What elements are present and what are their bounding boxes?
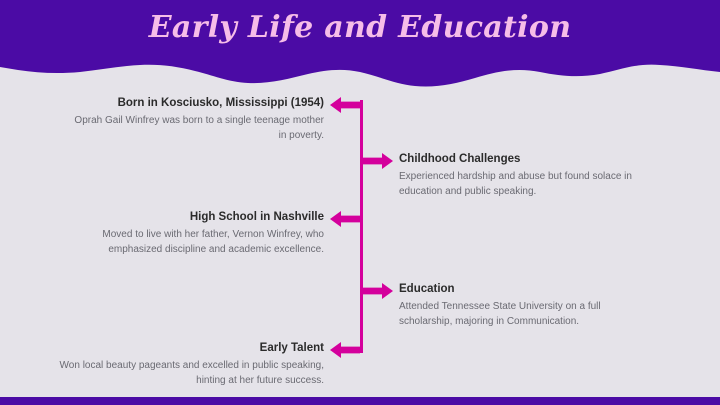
- timeline-item-text: Education Attended Tennessee State Unive…: [399, 282, 651, 329]
- timeline-item-text: Born in Kosciusko, Mississippi (1954) Op…: [74, 96, 324, 143]
- timeline-item-heading: Childhood Challenges: [399, 152, 654, 167]
- timeline-item-heading: High School in Nashville: [56, 210, 324, 225]
- timeline-item-text: Childhood Challenges Experienced hardshi…: [399, 152, 654, 199]
- timeline-item-body: Won local beauty pageants and excelled i…: [52, 359, 324, 388]
- timeline-item-education[interactable]: Education Attended Tennessee State Unive…: [363, 282, 651, 329]
- timeline-item-high-school-in-nashville[interactable]: High School in Nashville Moved to live w…: [56, 210, 360, 257]
- timeline-item-heading: Early Talent: [52, 341, 324, 356]
- page-title: Early Life and Education: [0, 8, 720, 48]
- timeline-item-childhood-challenges[interactable]: Childhood Challenges Experienced hardshi…: [363, 152, 654, 199]
- arrow-right-icon: [363, 153, 393, 169]
- timeline-item-heading: Born in Kosciusko, Mississippi (1954): [74, 96, 324, 111]
- timeline-item-early-talent[interactable]: Early Talent Won local beauty pageants a…: [52, 341, 360, 388]
- timeline-item-body: Moved to live with her father, Vernon Wi…: [56, 228, 324, 257]
- timeline-item-text: High School in Nashville Moved to live w…: [56, 210, 324, 257]
- timeline-item-body: Attended Tennessee State University on a…: [399, 300, 651, 329]
- arrow-right-icon: [363, 283, 393, 299]
- timeline-item-body: Experienced hardship and abuse but found…: [399, 170, 654, 199]
- slide: Early Life and Education Born in Koscius…: [0, 0, 720, 405]
- timeline-item-born-in-kosciusko[interactable]: Born in Kosciusko, Mississippi (1954) Op…: [74, 96, 360, 143]
- footer-accent-bar: [0, 397, 720, 405]
- timeline-item-text: Early Talent Won local beauty pageants a…: [52, 341, 324, 388]
- arrow-left-icon: [330, 342, 360, 358]
- timeline-item-heading: Education: [399, 282, 651, 297]
- timeline-item-body: Oprah Gail Winfrey was born to a single …: [74, 114, 324, 143]
- arrow-left-icon: [330, 97, 360, 113]
- header-band: Early Life and Education: [0, 0, 720, 92]
- arrow-left-icon: [330, 211, 360, 227]
